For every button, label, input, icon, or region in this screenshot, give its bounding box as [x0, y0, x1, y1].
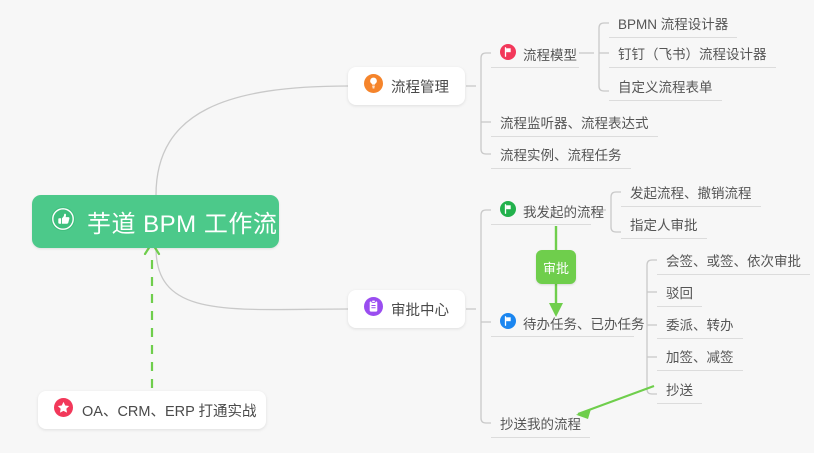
lightbulb-icon: [364, 74, 383, 98]
node-todo-done[interactable]: 待办任务、已办任务: [491, 308, 654, 337]
node-label: 指定人审批: [630, 214, 698, 234]
underline-todo-done: [491, 336, 634, 337]
node-label: 抄送: [666, 379, 693, 399]
node-assignee-approve[interactable]: 指定人审批: [621, 210, 707, 239]
node-label: BPMN 流程设计器: [618, 13, 728, 33]
edge-root-to-process-management: [156, 86, 348, 195]
edge-todo-corner-bottom: [647, 389, 657, 394]
node-add-remove-sign[interactable]: 加签、减签: [657, 342, 743, 371]
node-custom-form[interactable]: 自定义流程表单: [609, 72, 722, 101]
node-instance-task[interactable]: 流程实例、流程任务: [491, 140, 631, 169]
edge-mine-corner-bottom: [611, 227, 621, 232]
branch-approval-center[interactable]: 审批中心: [348, 290, 465, 328]
flag-icon: [500, 44, 516, 63]
node-start-cancel[interactable]: 发起流程、撤销流程: [621, 178, 761, 207]
node-label: 委派、转办: [666, 314, 734, 334]
node-bpmn-designer[interactable]: BPMN 流程设计器: [609, 9, 737, 38]
branch-process-management[interactable]: 流程管理: [348, 67, 465, 105]
thumbs-up-icon: [50, 206, 76, 237]
node-label: 自定义流程表单: [618, 76, 713, 96]
approval-tag-label: 审批: [543, 258, 569, 277]
edge-root-to-approval-center: [156, 248, 348, 310]
edge-pmodel-corner-bottom: [599, 86, 609, 91]
node-label: 发起流程、撤销流程: [630, 182, 752, 202]
node-reject[interactable]: 驳回: [657, 278, 702, 307]
node-label: 会签、或签、依次审批: [666, 250, 801, 270]
underline-my-initiated: [491, 224, 591, 225]
mindmap-canvas: 芋道 BPM 工作流 流程管理 审批中心: [0, 0, 814, 453]
node-cc[interactable]: 抄送: [657, 375, 702, 404]
star-icon: [54, 398, 73, 422]
node-label: 流程实例、流程任务: [500, 144, 622, 164]
callout-integration[interactable]: OA、CRM、ERP 打通实战: [38, 391, 266, 429]
node-label: 流程模型: [523, 44, 577, 64]
node-label: 驳回: [666, 282, 693, 302]
edge-pmodel-corner-top: [599, 23, 609, 28]
branch-label: 审批中心: [391, 299, 449, 320]
clipboard-icon: [364, 297, 383, 321]
root-label: 芋道 BPM 工作流: [87, 204, 277, 239]
branch-label: 流程管理: [391, 76, 449, 97]
node-label: 钉钉（飞书）流程设计器: [618, 43, 767, 63]
node-process-model[interactable]: 流程模型: [491, 39, 586, 68]
edge-pm-corner-bottom: [481, 149, 491, 154]
node-cc-to-me[interactable]: 抄送我的流程: [491, 409, 590, 438]
flag-icon: [500, 313, 516, 332]
node-label: 流程监听器、流程表达式: [500, 112, 649, 132]
flag-icon: [500, 201, 516, 220]
edge-pm-corner-top: [481, 53, 491, 58]
node-my-initiated[interactable]: 我发起的流程: [491, 196, 613, 225]
dashed-arrow-callout-to-root: [145, 243, 159, 388]
node-countersign[interactable]: 会签、或签、依次审批: [657, 246, 810, 275]
node-delegate-transfer[interactable]: 委派、转办: [657, 310, 743, 339]
node-label: 加签、减签: [666, 346, 734, 366]
node-dingtalk-designer[interactable]: 钉钉（飞书）流程设计器: [609, 39, 776, 68]
node-label: 我发起的流程: [523, 201, 604, 221]
edge-ac-corner-top: [481, 210, 491, 215]
edge-ac-corner-bottom: [481, 418, 491, 423]
root-node[interactable]: 芋道 BPM 工作流: [32, 195, 279, 248]
underline-process-model: [491, 67, 579, 68]
edge-todo-corner-top: [647, 260, 657, 265]
approval-tag-badge[interactable]: 审批: [536, 250, 576, 284]
node-label: 待办任务、已办任务: [523, 313, 645, 333]
callout-label: OA、CRM、ERP 打通实战: [82, 400, 257, 421]
node-label: 抄送我的流程: [500, 413, 581, 433]
node-listener-expression[interactable]: 流程监听器、流程表达式: [491, 108, 658, 137]
